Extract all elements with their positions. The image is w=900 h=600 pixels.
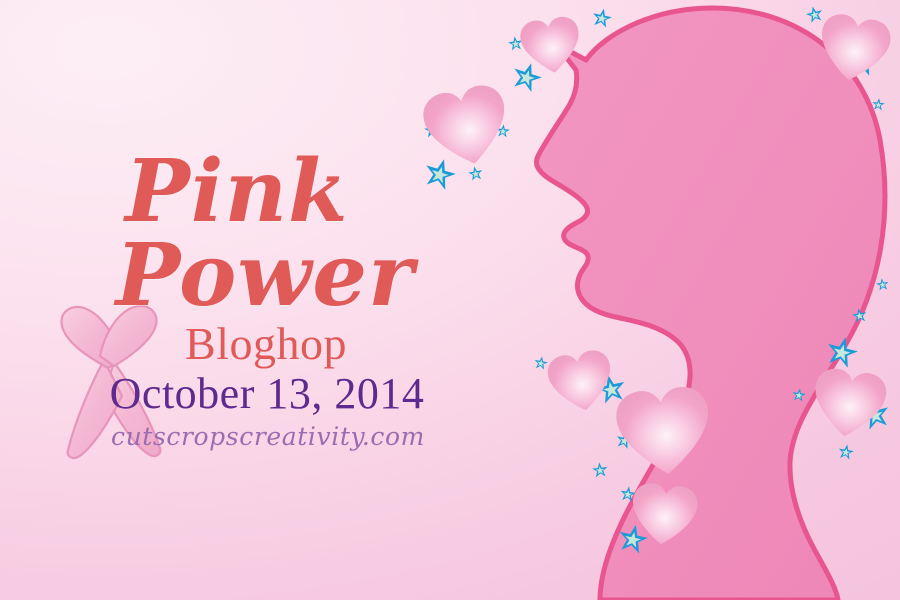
title-word-power: Power (116, 225, 415, 326)
star-mid-d (592, 462, 609, 478)
heart-left-neck (545, 348, 617, 416)
poster-title: Pink Power (0, 150, 520, 319)
poster-website-url: cutscropscreativity.com (0, 423, 520, 451)
poster-date: October 13, 2014 (0, 371, 520, 417)
star-mid-a (533, 355, 548, 370)
star-top-c (509, 59, 545, 94)
poster-subtitle: Bloghop (0, 321, 520, 367)
poster-text-block: Pink Power Bloghop October 13, 2014 cuts… (0, 150, 520, 450)
star-corner-b (875, 277, 889, 290)
star-top-d (805, 5, 825, 24)
star-right-e (837, 443, 855, 460)
pink-power-bloghop-poster: Pink Power Bloghop October 13, 2014 cuts… (0, 0, 900, 600)
female-profile-silhouette (536, 8, 884, 600)
heart-right-lower (809, 366, 888, 441)
star-top-a (591, 7, 614, 29)
